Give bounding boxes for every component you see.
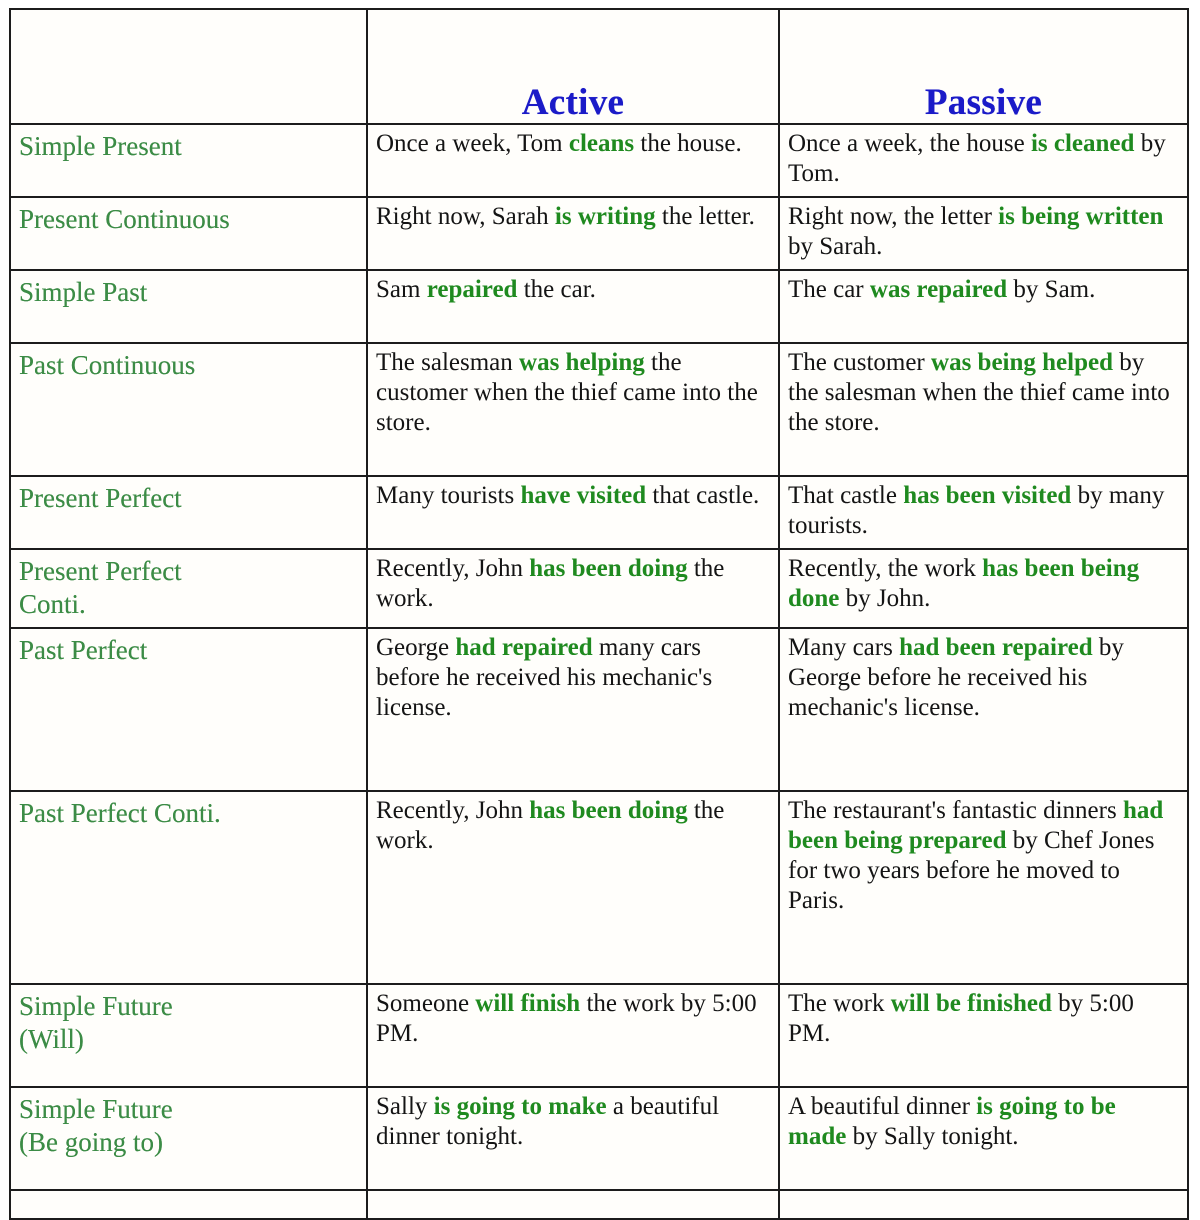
- sentence-text: The work: [788, 990, 891, 1017]
- highlighted-verb: was helping: [519, 349, 645, 376]
- tense-label: [19, 1194, 358, 1196]
- highlighted-verb: cleans: [569, 130, 634, 157]
- tense-label: Simple Future (Be going to): [19, 1091, 358, 1159]
- cell-tense: Present Continuous: [10, 197, 367, 270]
- table-row: Simple PastSam repaired the car.The car …: [10, 270, 1188, 343]
- passive-sentence: Right now, the letter is being written b…: [788, 201, 1179, 262]
- header-cell-tense: [10, 9, 367, 124]
- highlighted-verb: has been doing: [529, 797, 687, 824]
- cell-passive: The work will be finished by 5:00 PM.: [779, 984, 1188, 1087]
- table-row: [10, 1190, 1188, 1219]
- highlighted-verb: is cleaned: [1031, 130, 1134, 157]
- table-row: Present Perfect Conti.Recently, John has…: [10, 549, 1188, 628]
- cell-tense: Present Perfect: [10, 476, 367, 549]
- sentence-text: Recently, the work: [788, 555, 982, 582]
- cell-passive: Many cars had been repaired by George be…: [779, 628, 1188, 791]
- tense-label: Past Perfect Conti.: [19, 795, 358, 830]
- page-canvas: Active Passive Simple PresentOnce a week…: [0, 8, 1200, 1143]
- tense-label: Present Perfect Conti.: [19, 553, 358, 621]
- highlighted-verb: was repaired: [870, 276, 1007, 303]
- cell-active: Many tourists have visited that castle.: [367, 476, 779, 549]
- header-cell-active: Active: [367, 9, 779, 124]
- sentence-text: A beautiful dinner: [788, 1093, 976, 1120]
- table-row: Simple Future (Be going to)Sally is goin…: [10, 1087, 1188, 1190]
- passive-sentence: Many cars had been repaired by George be…: [788, 632, 1179, 723]
- sentence-text: Someone: [376, 990, 475, 1017]
- passive-sentence: The work will be finished by 5:00 PM.: [788, 988, 1179, 1049]
- tense-label: Simple Future (Will): [19, 988, 358, 1056]
- active-sentence: Sam repaired the car.: [376, 274, 770, 305]
- highlighted-verb: is being written: [998, 203, 1163, 230]
- cell-tense: Past Perfect Conti.: [10, 791, 367, 984]
- sentence-text: Recently, John: [376, 555, 529, 582]
- cell-tense: Simple Past: [10, 270, 367, 343]
- cell-passive: Recently, the work has been being done b…: [779, 549, 1188, 628]
- sentence-text: That castle: [788, 482, 903, 509]
- active-sentence: Sally is going to make a beautiful dinne…: [376, 1091, 770, 1152]
- active-sentence: [376, 1194, 770, 1195]
- sentence-text: The restaurant's fantastic dinners: [788, 797, 1123, 824]
- tense-label: Simple Present: [19, 128, 358, 163]
- tense-label: Simple Past: [19, 274, 358, 309]
- sentence-text: George: [376, 634, 455, 661]
- active-sentence: The salesman was helping the customer wh…: [376, 347, 770, 438]
- highlighted-verb: is writing: [555, 203, 656, 230]
- highlighted-verb: has been visited: [903, 482, 1071, 509]
- cell-tense: [10, 1190, 367, 1219]
- passive-sentence: Once a week, the house is cleaned by Tom…: [788, 128, 1179, 189]
- sentence-text: Recently, John: [376, 797, 529, 824]
- active-sentence: Recently, John has been doing the work.: [376, 795, 770, 856]
- passive-sentence: That castle has been visited by many tou…: [788, 480, 1179, 541]
- active-sentence: Someone will finish the work by 5:00 PM.: [376, 988, 770, 1049]
- sentence-text: The customer: [788, 349, 931, 376]
- passive-sentence: The restaurant's fantastic dinners had b…: [788, 795, 1179, 916]
- tense-label: Past Perfect: [19, 632, 358, 667]
- cell-active: Once a week, Tom cleans the house.: [367, 124, 779, 197]
- sentence-text: Once a week, Tom: [376, 130, 569, 157]
- column-header-passive-label: Passive: [788, 84, 1179, 121]
- tense-label: Past Continuous: [19, 347, 358, 382]
- cell-tense: Past Perfect: [10, 628, 367, 791]
- cell-tense: Simple Future (Be going to): [10, 1087, 367, 1190]
- passive-sentence: [788, 1194, 1179, 1195]
- cell-active: George had repaired many cars before he …: [367, 628, 779, 791]
- table-row: Present PerfectMany tourists have visite…: [10, 476, 1188, 549]
- highlighted-verb: had repaired: [455, 634, 592, 661]
- cell-passive: The car was repaired by Sam.: [779, 270, 1188, 343]
- highlighted-verb: will finish: [475, 990, 580, 1017]
- sentence-text: by John.: [839, 585, 930, 612]
- cell-passive: Right now, the letter is being written b…: [779, 197, 1188, 270]
- active-sentence: Recently, John has been doing the work.: [376, 553, 770, 614]
- passive-sentence: Recently, the work has been being done b…: [788, 553, 1179, 614]
- sentence-text: Once a week, the house: [788, 130, 1031, 157]
- highlighted-verb: repaired: [427, 276, 518, 303]
- sentence-text: the house.: [634, 130, 742, 157]
- table-row: Simple Future (Will)Someone will finish …: [10, 984, 1188, 1087]
- cell-active: The salesman was helping the customer wh…: [367, 343, 779, 476]
- table-header-row: Active Passive: [10, 9, 1188, 124]
- cell-active: [367, 1190, 779, 1219]
- sentence-text: The salesman: [376, 349, 519, 376]
- cell-active: Right now, Sarah is writing the letter.: [367, 197, 779, 270]
- sentence-text: Sam: [376, 276, 427, 303]
- sentence-text: the letter.: [656, 203, 755, 230]
- active-sentence: Many tourists have visited that castle.: [376, 480, 770, 511]
- active-sentence: George had repaired many cars before he …: [376, 632, 770, 723]
- table-row: Past PerfectGeorge had repaired many car…: [10, 628, 1188, 791]
- highlighted-verb: had been repaired: [899, 634, 1093, 661]
- sentence-text: by Sarah.: [788, 233, 882, 260]
- highlighted-verb: is going to make: [434, 1093, 607, 1120]
- sentence-text: The car: [788, 276, 870, 303]
- highlighted-verb: have visited: [520, 482, 646, 509]
- table-row: Simple PresentOnce a week, Tom cleans th…: [10, 124, 1188, 197]
- sentence-text: the car.: [517, 276, 595, 303]
- sentence-text: Right now, Sarah: [376, 203, 555, 230]
- cell-active: Sally is going to make a beautiful dinne…: [367, 1087, 779, 1190]
- highlighted-verb: has been doing: [529, 555, 687, 582]
- sentence-text: by Sally tonight.: [846, 1123, 1018, 1150]
- active-sentence: Once a week, Tom cleans the house.: [376, 128, 770, 159]
- cell-active: Recently, John has been doing the work.: [367, 791, 779, 984]
- highlighted-verb: was being helped: [931, 349, 1113, 376]
- table-row: Past ContinuousThe salesman was helping …: [10, 343, 1188, 476]
- sentence-text: that castle.: [646, 482, 759, 509]
- passive-sentence: A beautiful dinner is going to be made b…: [788, 1091, 1179, 1152]
- cell-passive: Once a week, the house is cleaned by Tom…: [779, 124, 1188, 197]
- cell-passive: The customer was being helped by the sal…: [779, 343, 1188, 476]
- cell-passive: [779, 1190, 1188, 1219]
- table-row: Present ContinuousRight now, Sarah is wr…: [10, 197, 1188, 270]
- highlighted-verb: will be finished: [891, 990, 1052, 1017]
- cell-tense: Simple Future (Will): [10, 984, 367, 1087]
- table-body: Active Passive Simple PresentOnce a week…: [10, 9, 1188, 1219]
- active-passive-voice-table: Active Passive Simple PresentOnce a week…: [9, 8, 1189, 1220]
- cell-tense: Simple Present: [10, 124, 367, 197]
- active-sentence: Right now, Sarah is writing the letter.: [376, 201, 770, 232]
- cell-active: Recently, John has been doing the work.: [367, 549, 779, 628]
- tense-label: Present Perfect: [19, 480, 358, 515]
- cell-passive: That castle has been visited by many tou…: [779, 476, 1188, 549]
- cell-tense: Present Perfect Conti.: [10, 549, 367, 628]
- sentence-text: Right now, the letter: [788, 203, 998, 230]
- sentence-text: Many cars: [788, 634, 899, 661]
- sentence-text: by Sam.: [1007, 276, 1095, 303]
- sentence-text: Many tourists: [376, 482, 520, 509]
- cell-active: Sam repaired the car.: [367, 270, 779, 343]
- cell-active: Someone will finish the work by 5:00 PM.: [367, 984, 779, 1087]
- table-row: Past Perfect Conti.Recently, John has be…: [10, 791, 1188, 984]
- cell-passive: The restaurant's fantastic dinners had b…: [779, 791, 1188, 984]
- column-header-active-label: Active: [376, 84, 770, 121]
- tense-label: Present Continuous: [19, 201, 358, 236]
- passive-sentence: The customer was being helped by the sal…: [788, 347, 1179, 438]
- sentence-text: Sally: [376, 1093, 434, 1120]
- cell-tense: Past Continuous: [10, 343, 367, 476]
- header-cell-passive: Passive: [779, 9, 1188, 124]
- cell-passive: A beautiful dinner is going to be made b…: [779, 1087, 1188, 1190]
- passive-sentence: The car was repaired by Sam.: [788, 274, 1179, 305]
